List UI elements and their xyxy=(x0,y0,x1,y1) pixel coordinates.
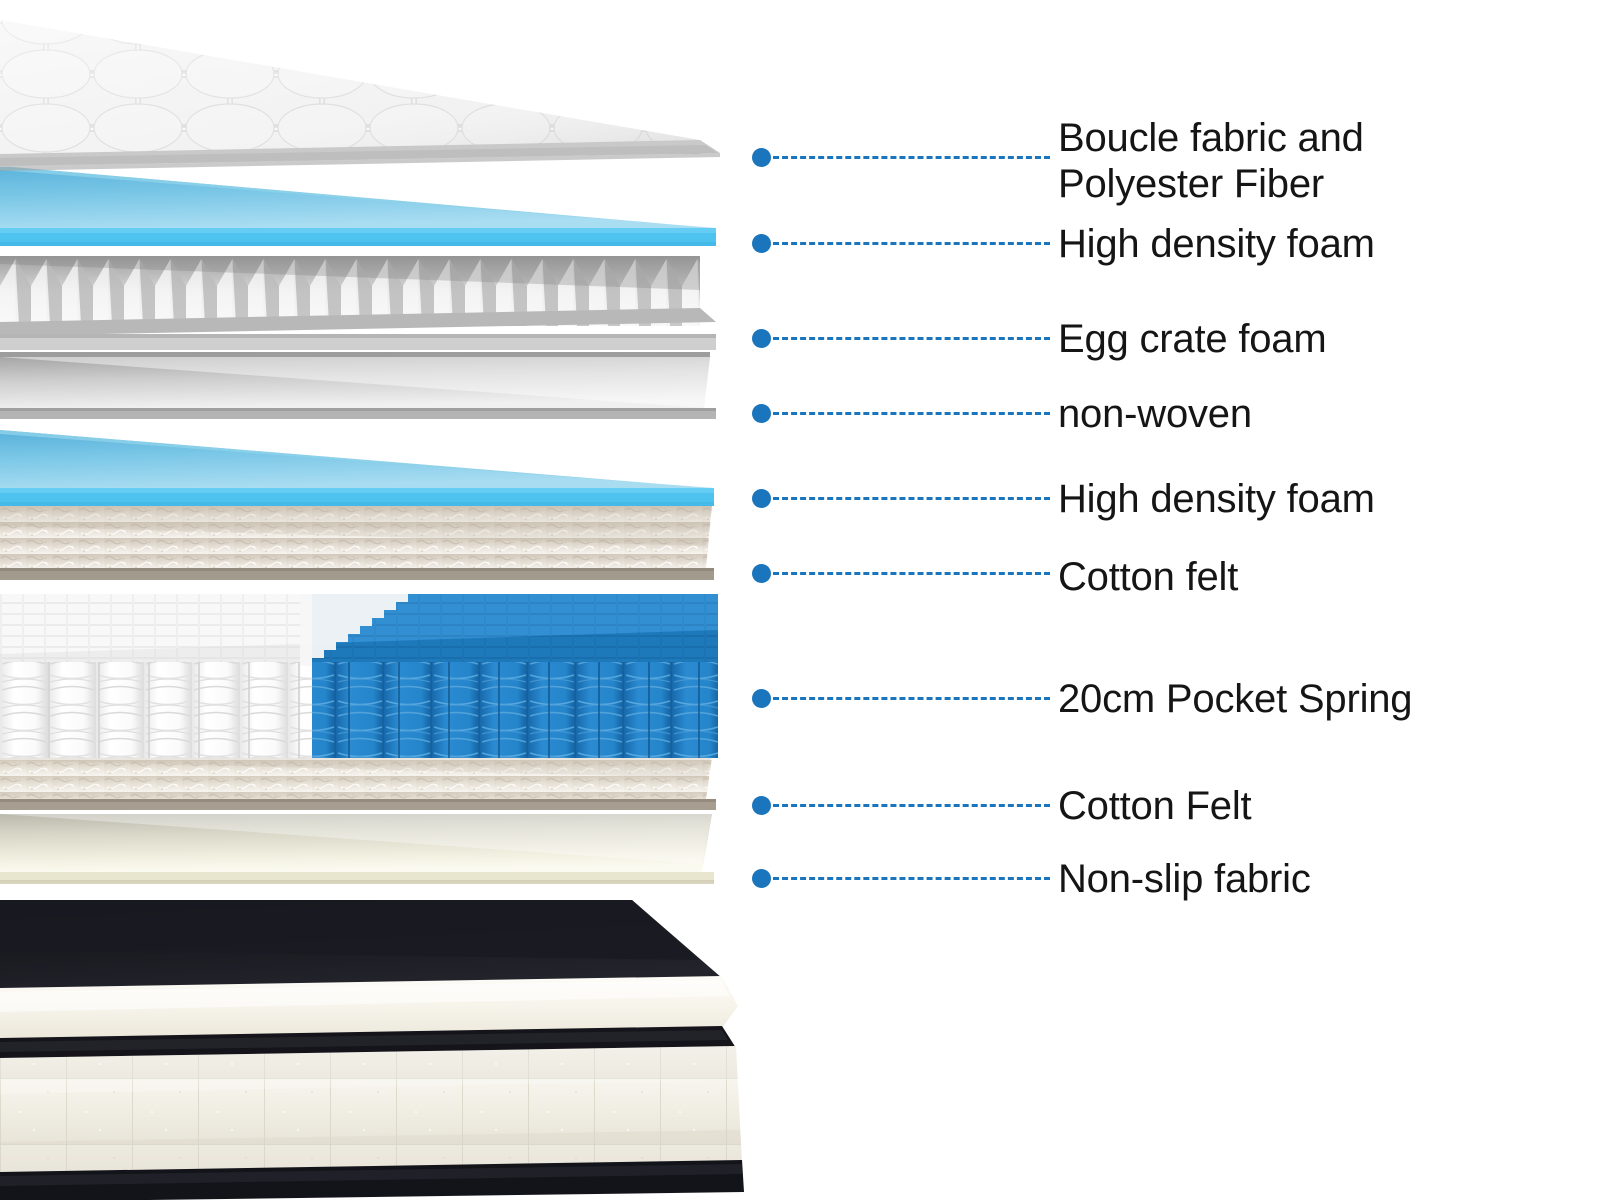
leader-line-non-woven xyxy=(752,402,1050,424)
leader-dash-non-slip-fabric xyxy=(773,877,1050,880)
leader-line-egg-crate-foam xyxy=(752,327,1050,349)
label-high-density-foam-top: High density foam xyxy=(1058,221,1375,267)
leader-line-high-density-foam-top xyxy=(752,232,1050,254)
layer-non-slip-fabric xyxy=(0,812,740,900)
layer-egg-crate-foam xyxy=(0,256,740,366)
label-cotton-felt-upper: Cotton felt xyxy=(1058,554,1238,600)
leader-dash-high-density-foam-top xyxy=(773,242,1050,245)
label-cotton-felt-lower: Cotton Felt xyxy=(1058,783,1251,829)
leader-dot-cotton-felt-upper xyxy=(752,564,771,583)
label-egg-crate-foam: Egg crate foam xyxy=(1058,316,1326,362)
label-boucle-fabric: Boucle fabric and Polyester Fiber xyxy=(1058,115,1364,207)
mattress-base xyxy=(0,880,760,1200)
label-pocket-spring: 20cm Pocket Spring xyxy=(1058,676,1412,722)
leader-dot-non-woven xyxy=(752,404,771,423)
leader-line-high-density-foam-lower xyxy=(752,487,1050,509)
layer-boucle-fabric xyxy=(0,20,760,175)
layer-high-density-foam-top xyxy=(0,166,740,258)
leader-line-cotton-felt-lower xyxy=(752,794,1050,816)
layer-high-density-foam-lower xyxy=(0,428,740,518)
leader-dash-pocket-spring xyxy=(773,697,1050,700)
layer-cotton-felt-upper xyxy=(0,506,740,588)
leader-dot-cotton-felt-lower xyxy=(752,796,771,815)
label-non-slip-fabric: Non-slip fabric xyxy=(1058,856,1311,902)
leader-dash-cotton-felt-lower xyxy=(773,804,1050,807)
leader-dash-egg-crate-foam xyxy=(773,337,1050,340)
leader-line-non-slip-fabric xyxy=(752,867,1050,889)
leader-line-boucle-fabric xyxy=(752,146,1050,168)
leader-dot-non-slip-fabric xyxy=(752,869,771,888)
layer-pocket-spring xyxy=(0,580,740,780)
leader-dot-pocket-spring xyxy=(752,689,771,708)
label-high-density-foam-lower: High density foam xyxy=(1058,476,1375,522)
leader-dash-high-density-foam-lower xyxy=(773,497,1050,500)
leader-line-cotton-felt-upper xyxy=(752,562,1050,584)
mattress-layer-diagram: Boucle fabric and Polyester Fiber High d… xyxy=(0,0,1600,1200)
leader-dot-high-density-foam-top xyxy=(752,234,771,253)
leader-dot-egg-crate-foam xyxy=(752,329,771,348)
leader-dot-high-density-foam-lower xyxy=(752,489,771,508)
leader-dash-cotton-felt-upper xyxy=(773,572,1050,575)
label-non-woven: non-woven xyxy=(1058,391,1252,437)
leader-dash-boucle-fabric xyxy=(773,156,1050,159)
leader-line-pocket-spring xyxy=(752,687,1050,709)
leader-dash-non-woven xyxy=(773,412,1050,415)
